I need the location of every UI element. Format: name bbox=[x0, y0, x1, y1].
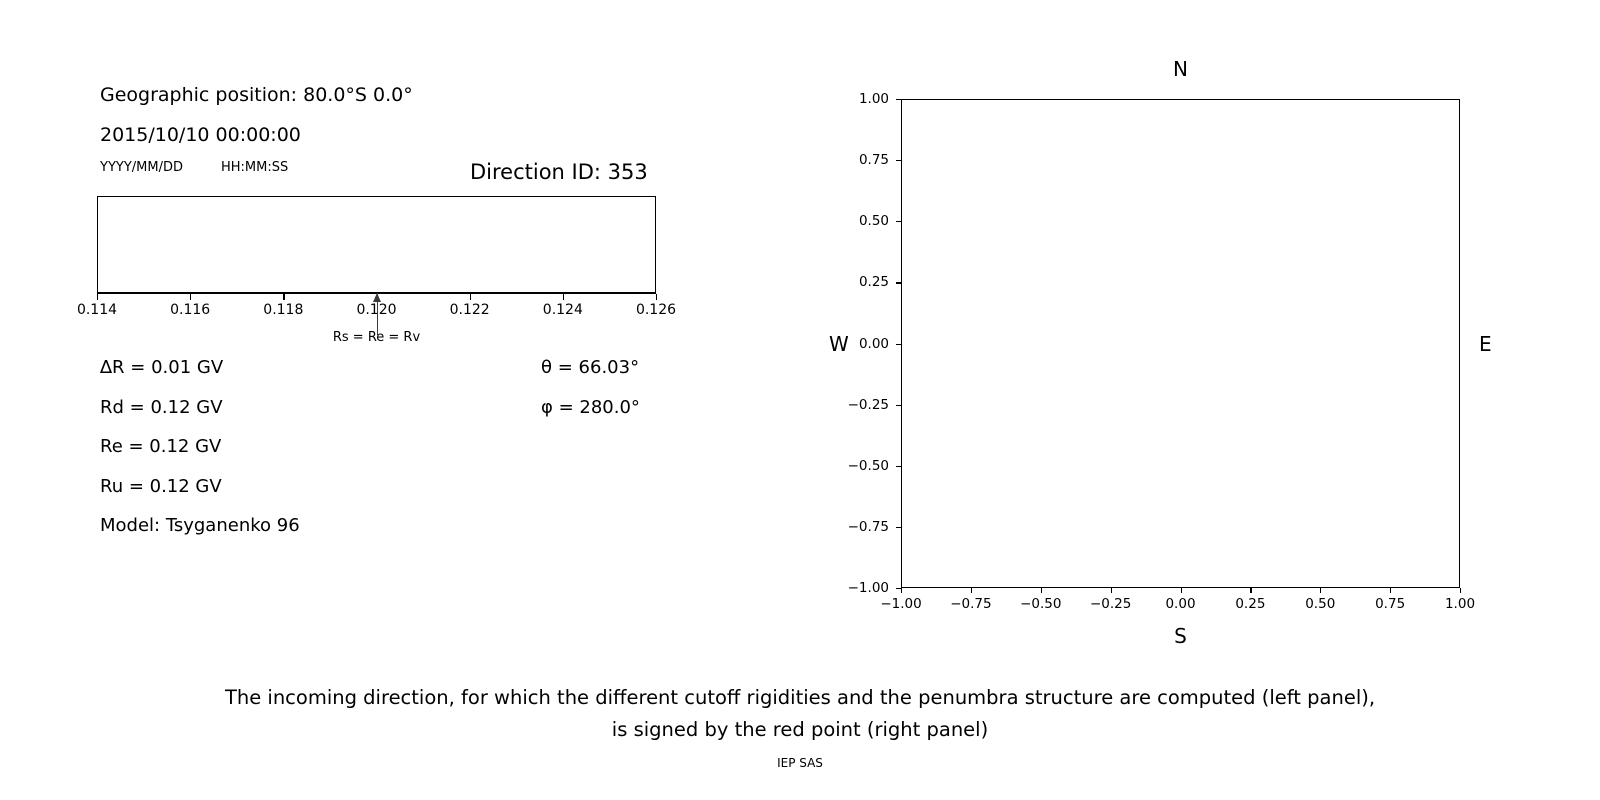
x-tick-mark bbox=[971, 588, 972, 593]
x-tick-mark bbox=[1320, 588, 1321, 593]
x-tick-mark bbox=[1250, 588, 1251, 593]
y-tick-mark bbox=[896, 527, 901, 528]
y-tick-mark bbox=[896, 282, 901, 283]
compass-label-west: W bbox=[829, 332, 849, 356]
y-tick-mark bbox=[896, 344, 901, 345]
y-tick-label: 0.50 bbox=[833, 213, 889, 229]
compass-label-south: S bbox=[1174, 624, 1187, 648]
x-tick-mark bbox=[1460, 588, 1461, 593]
x-tick-label: 0.75 bbox=[1375, 596, 1405, 612]
compass-label-north: N bbox=[1173, 57, 1188, 81]
compass-label-east: E bbox=[1479, 332, 1492, 356]
caption-line-2: is signed by the red point (right panel) bbox=[0, 718, 1600, 741]
x-tick-mark bbox=[1041, 588, 1042, 593]
x-tick-mark bbox=[1181, 588, 1182, 593]
plot-frame bbox=[901, 99, 1460, 588]
right-panel: −1.00−0.75−0.50−0.250.000.250.500.751.00… bbox=[0, 0, 1600, 660]
x-tick-label: −0.25 bbox=[1090, 596, 1131, 612]
y-tick-mark bbox=[896, 466, 901, 467]
organization-label: IEP SAS bbox=[0, 756, 1600, 770]
y-tick-label: 0.25 bbox=[833, 274, 889, 290]
x-tick-label: 1.00 bbox=[1445, 596, 1475, 612]
x-tick-label: −0.75 bbox=[950, 596, 991, 612]
caption-line-1: The incoming direction, for which the di… bbox=[0, 686, 1600, 709]
x-tick-label: 0.25 bbox=[1235, 596, 1265, 612]
y-tick-label: −0.50 bbox=[833, 458, 889, 474]
x-tick-label: 0.50 bbox=[1305, 596, 1335, 612]
x-tick-mark bbox=[1390, 588, 1391, 593]
x-tick-mark bbox=[901, 588, 902, 593]
y-tick-label: −0.75 bbox=[833, 519, 889, 535]
y-tick-mark bbox=[896, 405, 901, 406]
y-tick-mark bbox=[896, 221, 901, 222]
y-tick-label: −0.25 bbox=[833, 397, 889, 413]
x-tick-label: −0.50 bbox=[1020, 596, 1061, 612]
x-tick-label: −1.00 bbox=[880, 596, 921, 612]
y-tick-mark bbox=[896, 160, 901, 161]
y-tick-label: 1.00 bbox=[833, 91, 889, 107]
x-tick-mark bbox=[1111, 588, 1112, 593]
y-tick-mark bbox=[896, 99, 901, 100]
y-tick-label: 0.75 bbox=[833, 152, 889, 168]
y-tick-label: −1.00 bbox=[833, 580, 889, 596]
x-tick-label: 0.00 bbox=[1165, 596, 1195, 612]
